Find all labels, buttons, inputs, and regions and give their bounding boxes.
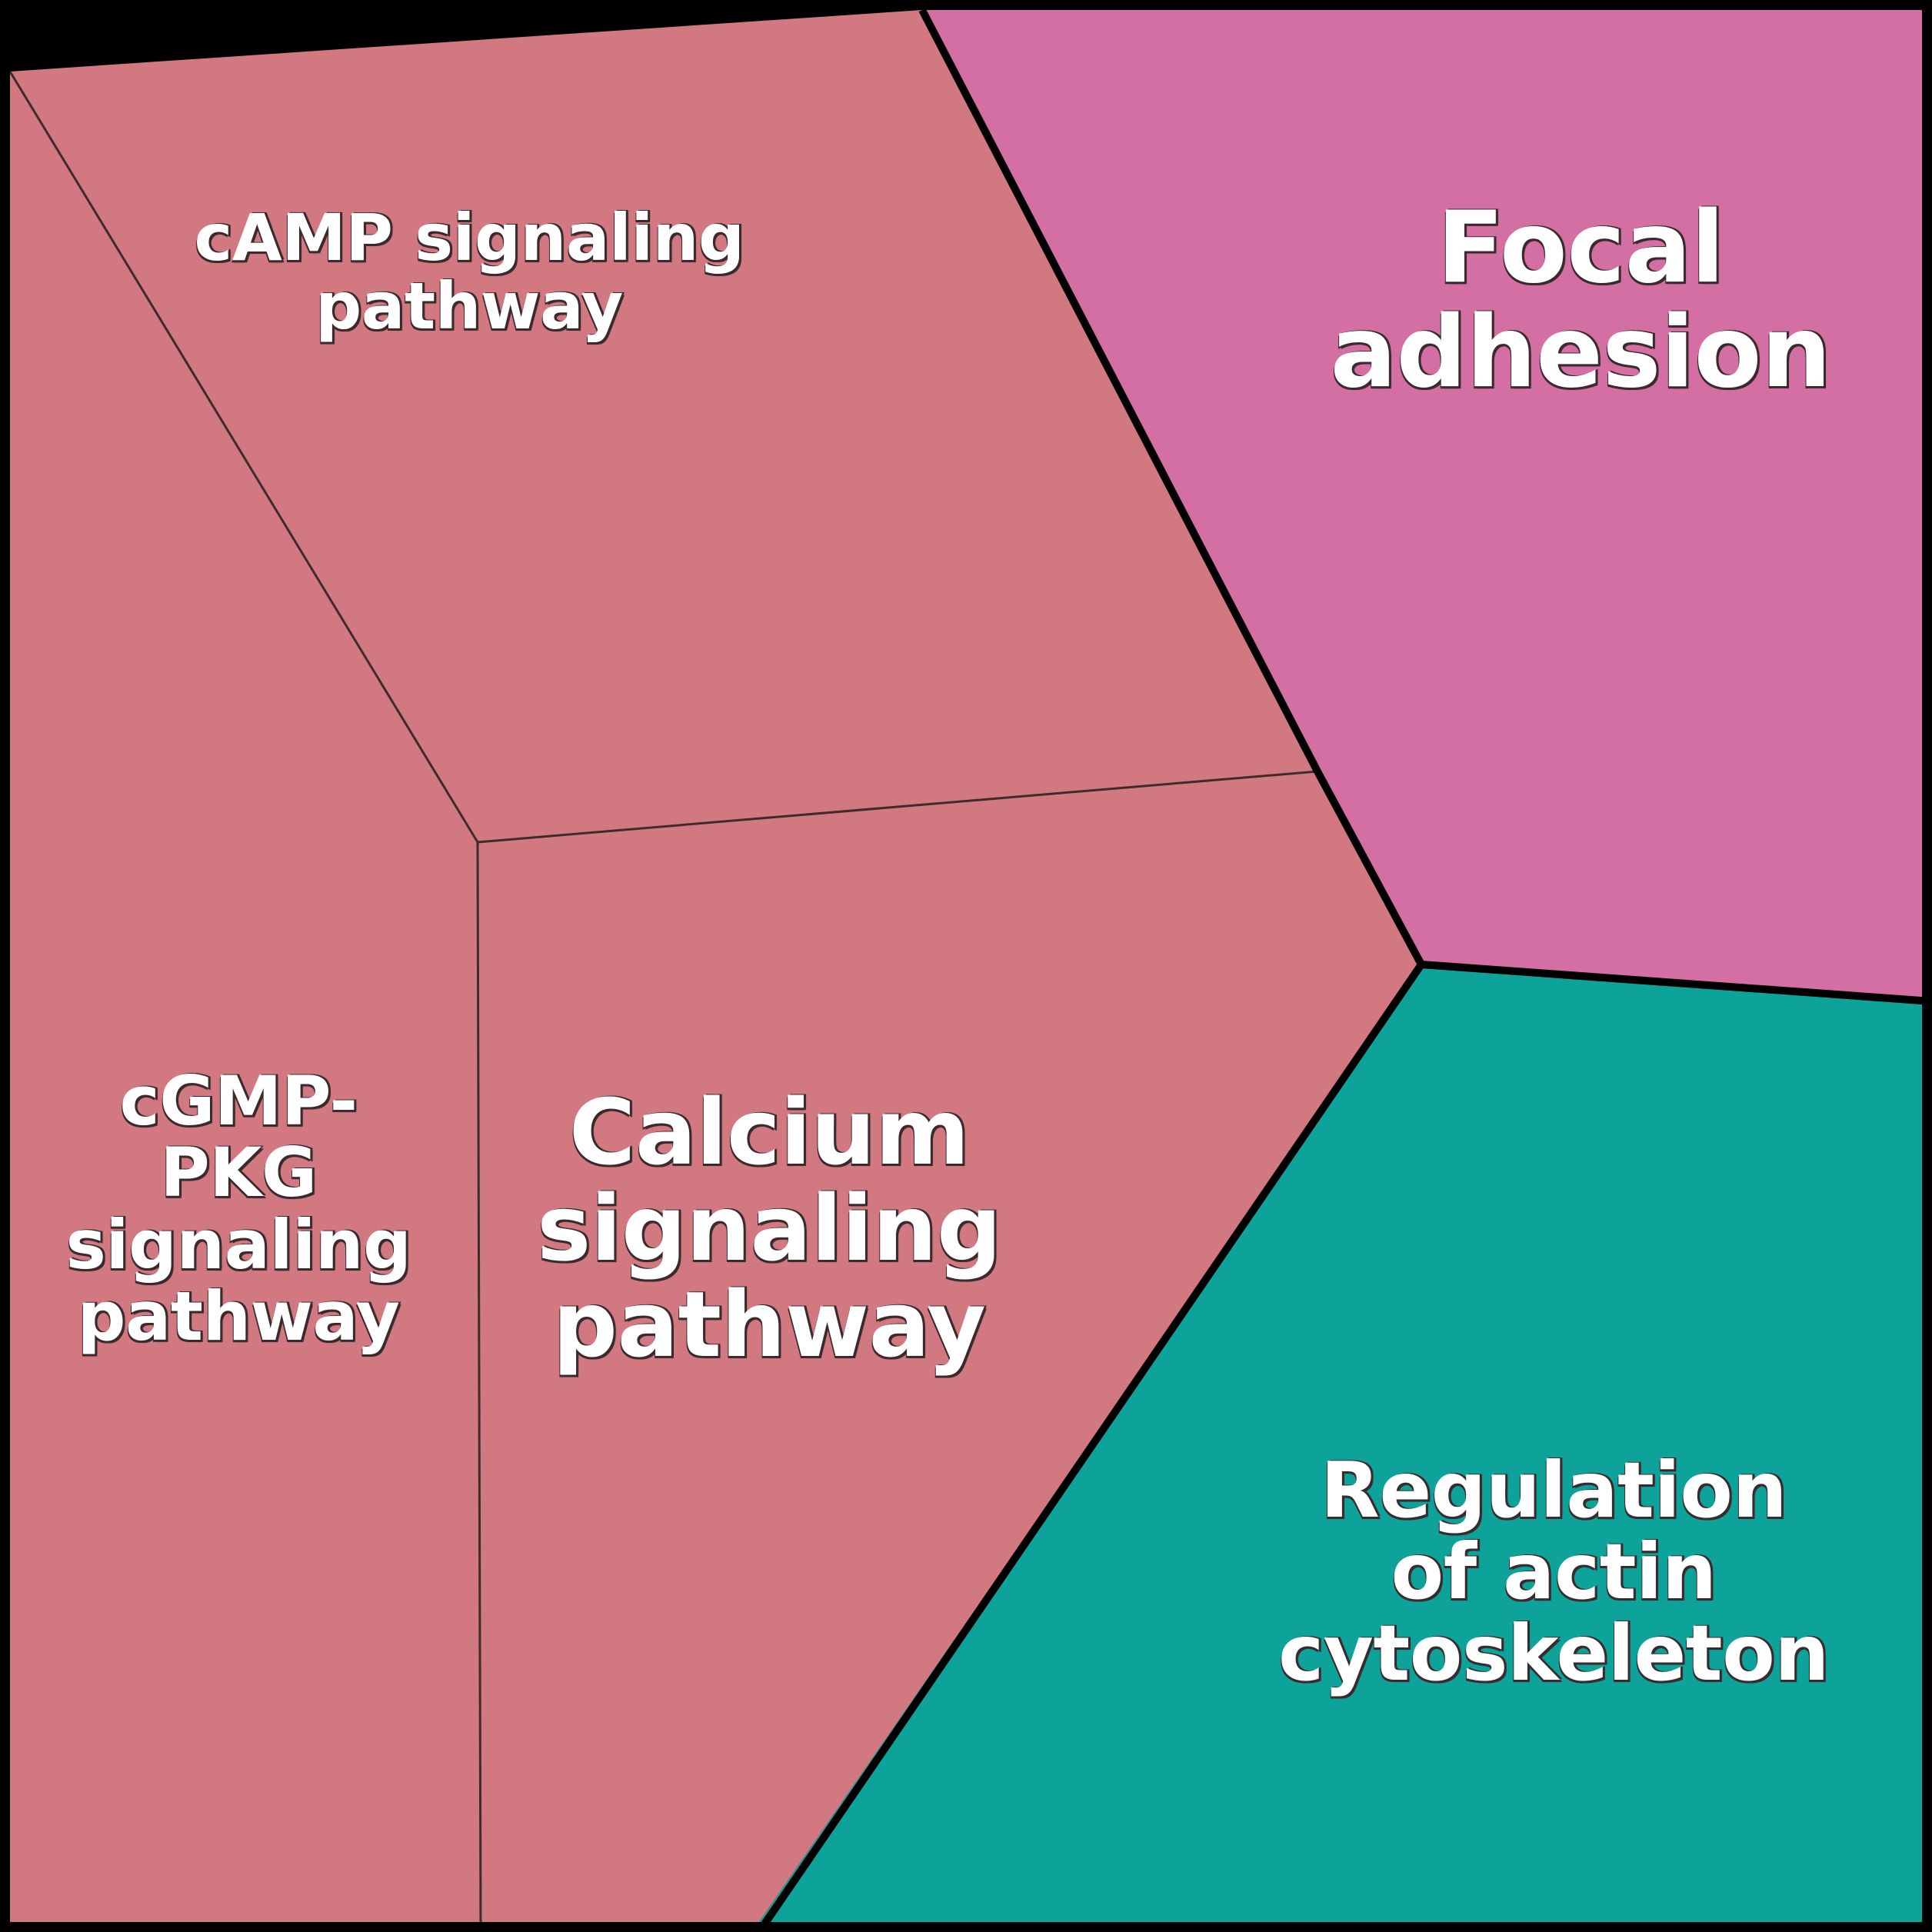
treemap-canvas xyxy=(0,0,1932,1932)
voronoi-treemap-figure: cAMP signaling pathway Focal adhesion cG… xyxy=(0,0,1932,1932)
